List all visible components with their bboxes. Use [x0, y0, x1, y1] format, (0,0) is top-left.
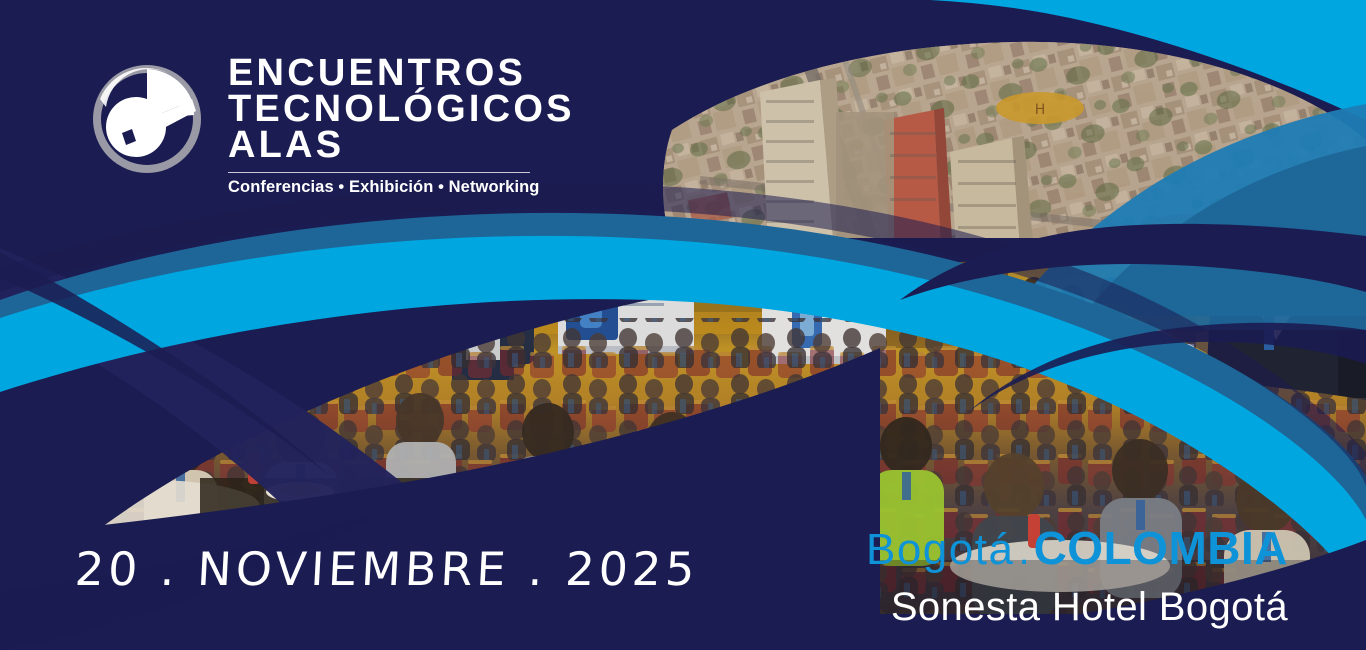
logo-tagline: Conferencias • Exhibición • Networking	[228, 177, 575, 197]
logo-line-1: ENCUENTROS	[228, 55, 575, 91]
event-banner: H	[0, 0, 1366, 650]
event-venue: Bogotá.COLOMBIA Sonesta Hotel Bogotá	[866, 524, 1288, 630]
venue-separator: .	[1014, 529, 1033, 573]
logo-wordmark: ENCUENTROS TECNOLÓGICOS ALAS Conferencia…	[228, 55, 575, 197]
logo-line-2: TECNOLÓGICOS	[228, 91, 575, 127]
alas-circular-gauge-logo-icon	[88, 59, 206, 179]
logo-line-3: ALAS	[228, 127, 575, 163]
event-date: 20 . NOVIEMBRE . 2025	[74, 542, 700, 596]
venue-country: COLOMBIA	[1034, 522, 1288, 574]
logo-divider	[228, 172, 530, 173]
venue-city: Bogotá	[866, 525, 1014, 574]
event-logo: ENCUENTROS TECNOLÓGICOS ALAS Conferencia…	[88, 55, 575, 197]
venue-location-line: Bogotá.COLOMBIA	[866, 524, 1288, 584]
venue-hotel: Sonesta Hotel Bogotá	[866, 584, 1288, 630]
